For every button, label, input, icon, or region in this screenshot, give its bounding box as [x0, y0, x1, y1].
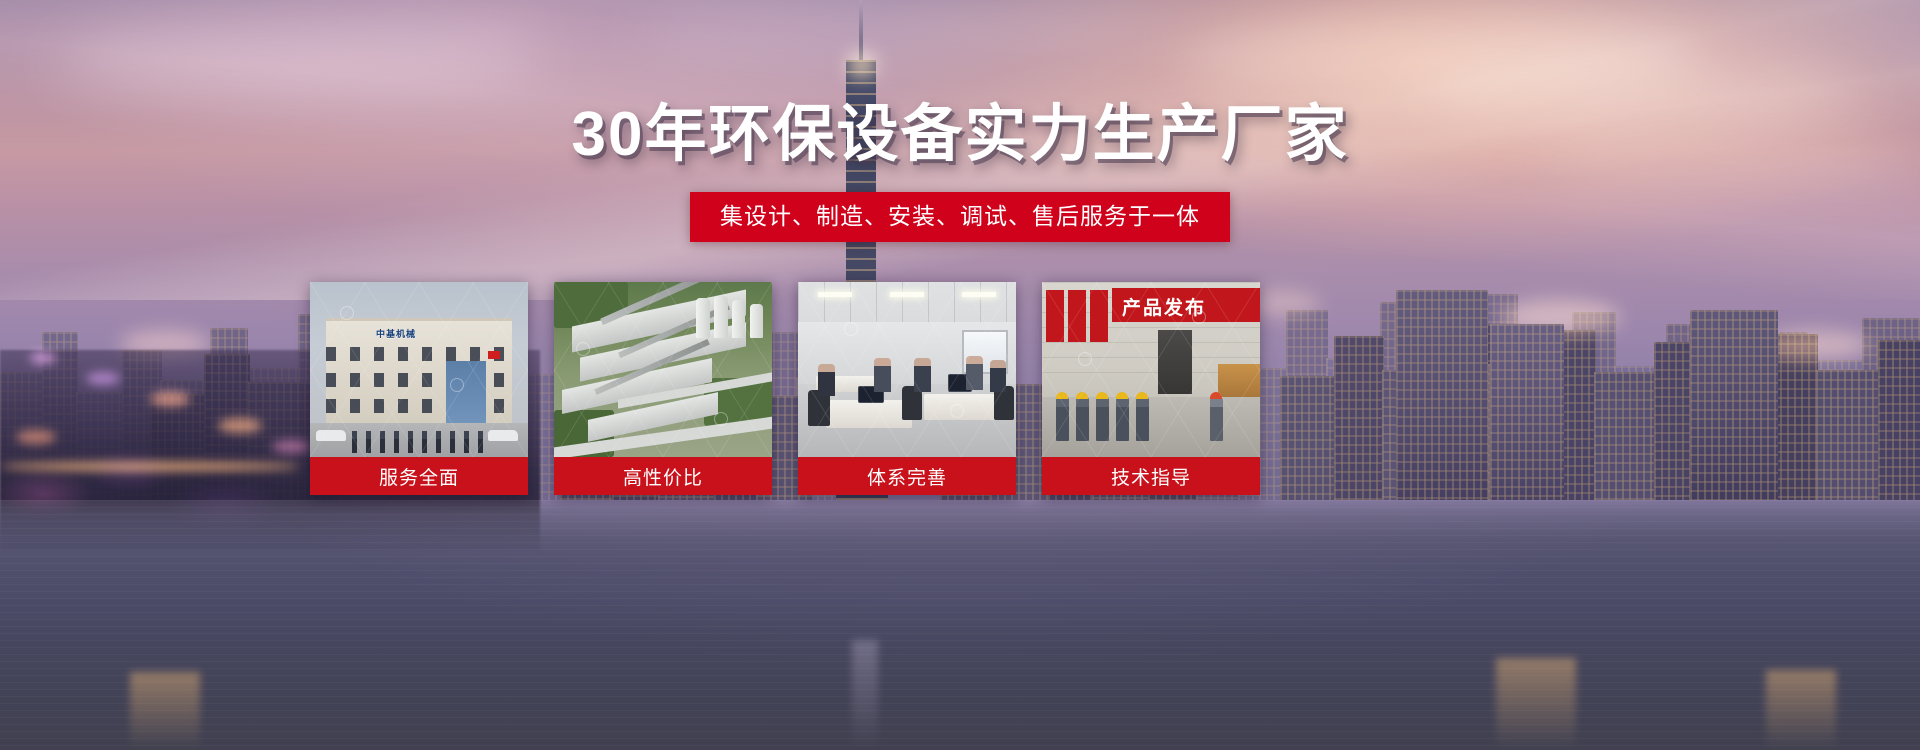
- workshop-door: [1158, 330, 1192, 394]
- hero-banner: 30年环保设备实力生产厂家 集设计、制造、安装、调试、售后服务于一体 中基机械: [0, 0, 1920, 750]
- card-photo: 产品发布: [1042, 282, 1260, 457]
- employee: [966, 356, 983, 390]
- worker: [1056, 397, 1069, 441]
- staff-person: [352, 431, 357, 453]
- staff-person: [380, 431, 385, 453]
- safety-helmet-icon: [1136, 392, 1148, 399]
- subtitle-container: 集设计、制造、安装、调试、售后服务于一体: [0, 192, 1920, 242]
- card-caption-value: 高性价比: [554, 457, 772, 495]
- flag-icon: [488, 351, 500, 359]
- glass-atrium: [446, 361, 486, 429]
- car: [316, 430, 346, 441]
- safety-helmet-icon: [1096, 392, 1108, 399]
- storage-silo: [732, 300, 745, 338]
- office-interior-photo: [798, 282, 1016, 457]
- wall-slogan-strip: [1090, 290, 1108, 342]
- staff-person: [408, 431, 413, 453]
- aerial-plant-photo: [554, 282, 772, 457]
- storage-silo: [714, 296, 728, 338]
- card-photo: [798, 282, 1016, 457]
- worker: [1116, 397, 1129, 441]
- card-photo: [554, 282, 772, 457]
- safety-helmet-icon: [1116, 392, 1128, 399]
- desk: [826, 400, 912, 428]
- staff-person: [478, 431, 483, 453]
- employee: [818, 364, 835, 396]
- wall-slogan-strip: [1068, 290, 1086, 342]
- feature-card[interactable]: 中基机械: [310, 282, 528, 495]
- car: [488, 430, 518, 441]
- staff-person: [464, 431, 469, 453]
- ceiling-light: [962, 292, 996, 297]
- worker: [1076, 397, 1089, 441]
- banner-content: 30年环保设备实力生产厂家 集设计、制造、安装、调试、售后服务于一体 中基机械: [0, 0, 1920, 750]
- storage-silo: [750, 304, 763, 338]
- office-building-photo: 中基机械: [310, 282, 528, 457]
- staff-person: [436, 431, 441, 453]
- workshop-floor: [1042, 397, 1260, 457]
- employee: [990, 360, 1006, 392]
- card-caption-service: 服务全面: [310, 457, 528, 495]
- feature-card[interactable]: 体系完善: [798, 282, 1016, 495]
- supervisor: [1210, 397, 1223, 441]
- employee: [914, 358, 931, 392]
- staff-person: [422, 431, 427, 453]
- wall-slogan-strip: [1046, 290, 1064, 342]
- office-building: 中基机械: [326, 318, 512, 426]
- staff-person: [450, 431, 455, 453]
- card-caption-system: 体系完善: [798, 457, 1016, 495]
- feature-card[interactable]: 高性价比: [554, 282, 772, 495]
- worker: [1096, 397, 1109, 441]
- subtitle-badge: 集设计、制造、安装、调试、售后服务于一体: [690, 192, 1230, 242]
- page-title: 30年环保设备实力生产厂家: [0, 104, 1920, 166]
- window-row: [326, 347, 512, 361]
- safety-helmet-icon: [1056, 392, 1068, 399]
- feature-card[interactable]: 产品发布: [1042, 282, 1260, 495]
- employee: [874, 358, 891, 392]
- card-caption-guidance: 技术指导: [1042, 457, 1260, 495]
- staff-person: [394, 431, 399, 453]
- storage-silo: [696, 298, 710, 338]
- staff-person: [366, 431, 371, 453]
- workshop-photo: 产品发布: [1042, 282, 1260, 457]
- desk: [924, 394, 1002, 420]
- wall-banner-text: 产品发布: [1122, 293, 1206, 320]
- safety-helmet-icon: [1210, 392, 1222, 399]
- feature-card-row: 中基机械: [310, 282, 1610, 495]
- ceiling-light: [890, 292, 924, 297]
- ceiling: [798, 282, 1016, 322]
- material-stack: [1218, 364, 1260, 398]
- company-sign-label: 中基机械: [376, 327, 416, 340]
- worker: [1136, 397, 1149, 441]
- card-photo: 中基机械: [310, 282, 528, 457]
- ceiling-light: [818, 292, 852, 297]
- safety-helmet-icon: [1076, 392, 1088, 399]
